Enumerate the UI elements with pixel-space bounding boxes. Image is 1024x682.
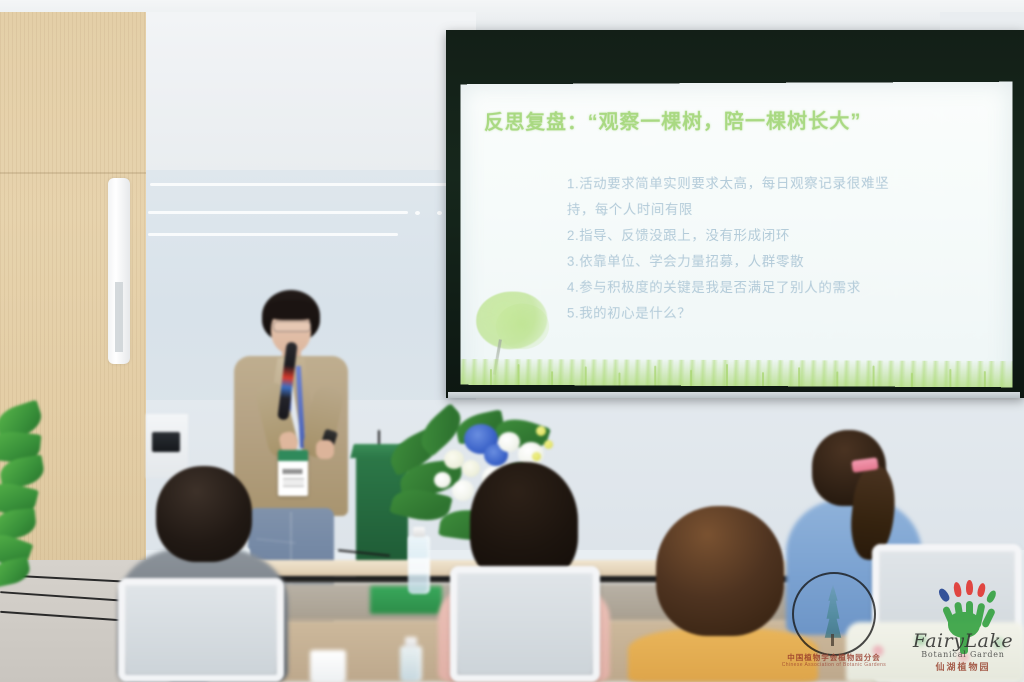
slide-bullet: 5.我的初心是什么？ [567, 301, 958, 328]
presentation-slide: 反思复盘：“观察一棵树，陪一棵树长大” 1.活动要求简单实则要求太高，每日观察记… [460, 82, 1012, 388]
speaker-glasses [273, 321, 311, 332]
glass-reflection-strip [148, 211, 408, 214]
fairylake-name-en: FairyLake [904, 630, 1022, 652]
upper-wall [146, 12, 476, 172]
fairylake-watermark: FairyLake Botanical Garden 仙湖植物园 [904, 572, 1022, 674]
cabg-watermark: 中国植物学会植物园分会 Chinese Association of Botan… [778, 572, 890, 672]
slide-title: 反思复盘：“观察一棵树，陪一棵树长大” [484, 104, 861, 134]
chair [450, 566, 600, 682]
water-bottle [408, 536, 430, 594]
slide-bullet: 2.指导、反馈没跟上，没有形成闭环 [567, 223, 958, 249]
presentation-photo-scene: 反思复盘：“观察一棵树，陪一棵树长大” 1.活动要求简单实则要求太高，每日观察记… [0, 0, 1024, 682]
glass-reflection-dot [415, 211, 420, 215]
indoor-plant [0, 398, 70, 602]
slide-bullet-list: 1.活动要求简单实则要求太高，每日观察记录很难坚 持，每个人时间有限 2.指导、… [567, 171, 958, 328]
glass-reflection-dot [437, 211, 442, 215]
slide-bullet: 持，每个人时间有限 [567, 197, 958, 223]
water-bottle [400, 646, 422, 682]
fairylake-name-cn: 仙湖植物园 [904, 660, 1022, 673]
slide-grass-decoration [460, 359, 1012, 387]
chair [118, 578, 284, 682]
glass-reflection-strip [148, 233, 398, 236]
wall-mounted-device [152, 432, 180, 452]
paper-cup [310, 650, 346, 682]
slide-bullet: 1.活动要求简单实则要求太高，每日观察记录很难坚 [567, 171, 958, 198]
fairylake-subtitle-en: Botanical Garden [904, 650, 1022, 659]
speaker-hand-right [316, 440, 334, 459]
slide-bullet: 4.参与积极度的关键是我是否满足了别人的需求 [567, 275, 958, 302]
conference-badge [278, 450, 308, 496]
cabg-name-en: Chinese Association of Botanic Gardens [778, 662, 890, 668]
wood-panel-seam [0, 172, 146, 174]
tree-trunk-icon [831, 634, 834, 646]
glass-reflection-strip [150, 183, 450, 186]
audience-person-head [656, 506, 784, 636]
speaker-bangs [265, 300, 318, 320]
green-bag [370, 586, 442, 614]
screen-bottom-bar [448, 392, 1020, 398]
audience-person-head [156, 466, 252, 562]
slide-bullet: 3.依靠单位、学会力量招募，人群零散 [567, 249, 958, 275]
wall-vent-slit [115, 282, 123, 352]
